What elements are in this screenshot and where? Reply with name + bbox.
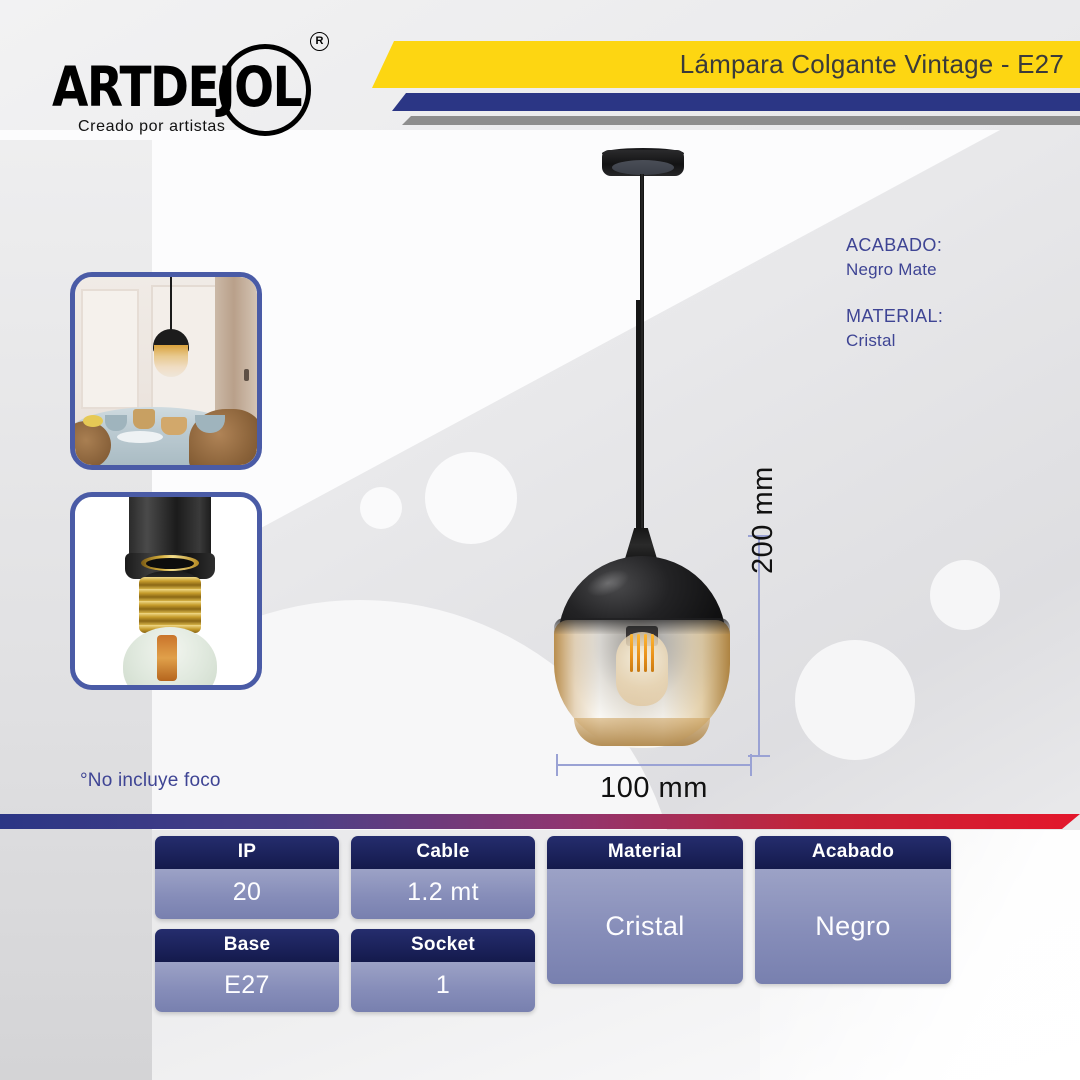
- filament-strand: [644, 634, 647, 672]
- hanging-cable-curve: [636, 300, 652, 544]
- note-acabado-value: Negro Mate: [846, 258, 943, 283]
- tableware-item: [83, 415, 103, 427]
- spec-value-material: Cristal: [547, 869, 743, 984]
- note-material-value: Cristal: [846, 329, 943, 354]
- spec-label-acabado: Acabado: [755, 836, 951, 869]
- hanging-cable: [640, 174, 644, 540]
- spec-value-cable: 1.2 mt: [351, 869, 535, 919]
- spec-value-base: E27: [155, 962, 339, 1012]
- brand-name: ARTDEJOL: [52, 60, 301, 115]
- spec-card-material: Material Cristal: [547, 836, 743, 984]
- note-material-key: MATERIAL:: [846, 303, 943, 329]
- spec-label-ip: IP: [155, 836, 339, 869]
- spec-card-ip: IP 20: [155, 836, 339, 919]
- brand-tagline: Creado por artistas: [78, 118, 225, 136]
- spec-value-socket: 1: [351, 962, 535, 1012]
- spec-column-left: IP 20 Base E27: [155, 836, 339, 1012]
- banner-stripe-navy: [392, 93, 1080, 111]
- note-acabado: ACABADO: Negro Mate: [846, 232, 943, 283]
- spec-card-base: Base E27: [155, 929, 339, 1012]
- spec-column-acabado: Acabado Negro: [755, 836, 951, 1012]
- spec-value-ip: 20: [155, 869, 339, 919]
- registered-trademark-icon: R: [310, 32, 329, 51]
- tableware-item: [117, 431, 163, 443]
- door-knob: [244, 369, 249, 381]
- filament-strand: [630, 634, 633, 672]
- note-acabado-key: ACABADO:: [846, 232, 943, 258]
- spec-label-cable: Cable: [351, 836, 535, 869]
- thumbnail-image: [75, 497, 257, 685]
- footnote-no-bulb: °No incluye foco: [80, 770, 221, 792]
- thumbnail-room-scene[interactable]: [70, 272, 262, 470]
- tableware-item: [161, 417, 187, 435]
- spec-card-socket: Socket 1: [351, 929, 535, 1012]
- bulb-screw-thread: [139, 577, 201, 633]
- bulb-filament: [157, 635, 177, 681]
- socket-opening: [146, 558, 194, 569]
- spec-card-cable: Cable 1.2 mt: [351, 836, 535, 919]
- infographic-page: ARTDEJOL R Creado por artistas Lámpara C…: [0, 0, 1080, 1080]
- spec-label-socket: Socket: [351, 929, 535, 962]
- spec-card-acabado: Acabado Negro: [755, 836, 951, 984]
- banner-stripe-gray: [402, 116, 1080, 125]
- page-title: Lámpara Colgante Vintage - E27: [372, 41, 1064, 88]
- brand-logo: ARTDEJOL R Creado por artistas: [52, 26, 352, 136]
- wall-panel: [81, 289, 139, 409]
- note-material: MATERIAL: Cristal: [846, 303, 943, 354]
- filament-strand: [651, 634, 654, 672]
- spec-label-material: Material: [547, 836, 743, 869]
- spec-label-base: Base: [155, 929, 339, 962]
- thumbnail-image: [75, 277, 257, 465]
- spec-column-material: Material Cristal: [547, 836, 743, 1012]
- spec-value-acabado: Negro: [755, 869, 951, 984]
- thumbnail-socket-closeup[interactable]: [70, 492, 262, 690]
- ceiling-canopy-face: [612, 160, 674, 175]
- spec-column-middle: Cable 1.2 mt Socket 1: [351, 836, 535, 1012]
- spec-table: IP 20 Base E27 Cable 1.2 mt Socket 1 Mat…: [155, 836, 951, 1012]
- gradient-divider: [0, 814, 1080, 829]
- tableware-item: [133, 409, 155, 429]
- lamp-cable: [170, 277, 172, 333]
- product-notes: ACABADO: Negro Mate MATERIAL: Cristal: [846, 232, 943, 373]
- lamp-glass-base: [574, 718, 710, 746]
- bulb-filament: [630, 634, 654, 672]
- filament-strand: [637, 634, 640, 672]
- header: ARTDEJOL R Creado por artistas Lámpara C…: [0, 0, 1080, 142]
